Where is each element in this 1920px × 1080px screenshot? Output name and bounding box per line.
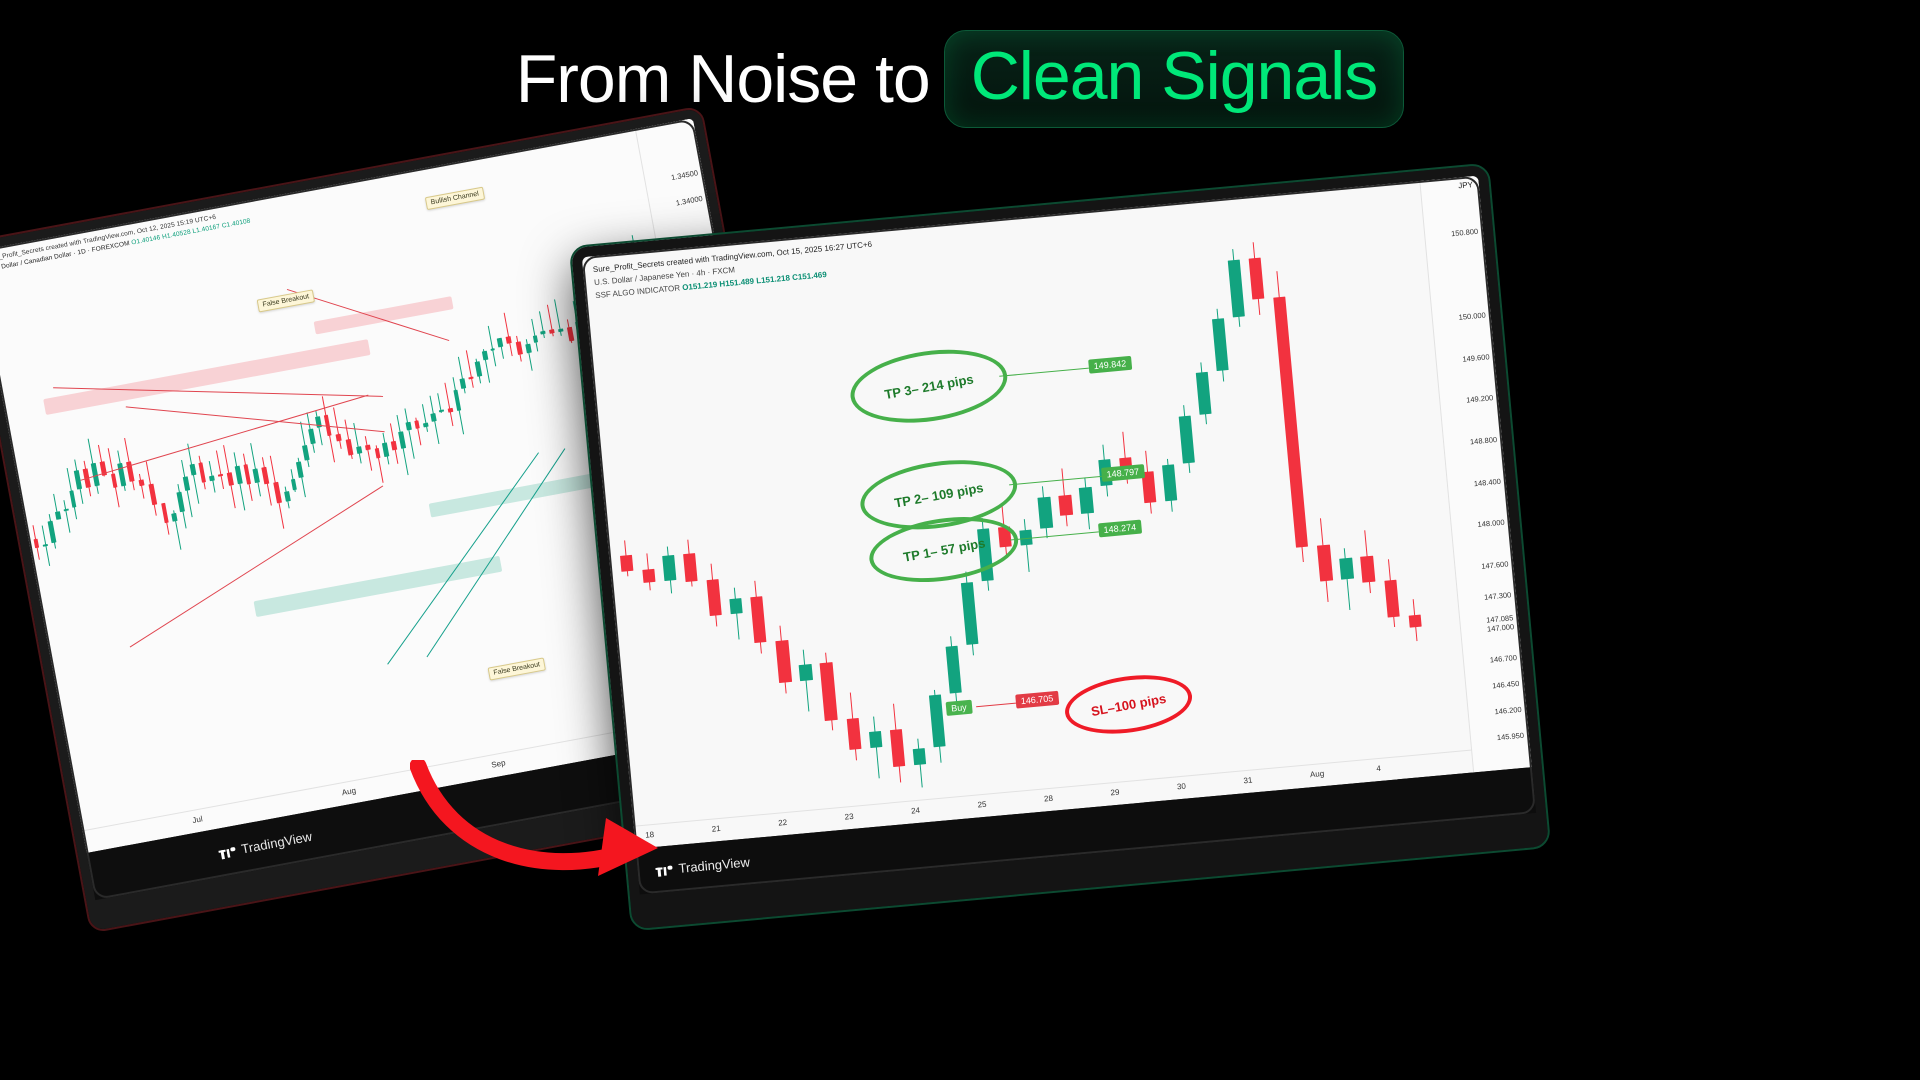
- time-tick: 24: [911, 806, 921, 816]
- candle-body: [177, 492, 185, 512]
- candle-body: [482, 350, 488, 360]
- price-tag-tp1: 148.274: [1098, 519, 1142, 537]
- candle-body: [148, 483, 157, 505]
- price-tick: 1.34500: [670, 168, 698, 182]
- title-plain-text: From Noise to: [516, 40, 930, 118]
- candle-body: [302, 445, 309, 460]
- price-tick: 149.200: [1466, 393, 1494, 404]
- candle-body: [346, 439, 354, 456]
- time-tick: 25: [977, 800, 987, 810]
- candle-body: [189, 464, 196, 476]
- candle-body: [391, 441, 397, 450]
- candle-body: [567, 327, 574, 341]
- candle-body: [63, 508, 68, 511]
- time-tick: 31: [1243, 776, 1253, 786]
- candle-body: [533, 335, 539, 342]
- time-tick: 4: [1376, 764, 1381, 773]
- candle-body: [453, 390, 462, 411]
- candle-body: [405, 421, 411, 430]
- candle-body: [262, 467, 270, 484]
- price-tick: 146.200: [1494, 705, 1522, 716]
- candle-body: [172, 513, 178, 522]
- price-tick: 146.700: [1489, 653, 1517, 664]
- candle-body: [139, 480, 145, 486]
- candle-body: [33, 538, 39, 548]
- tradingview-logo-icon: [218, 843, 237, 859]
- clean-signals-chart-monitor: Sure_Profit_Secrets created with Trading…: [571, 165, 1549, 930]
- time-tick: 23: [844, 812, 854, 822]
- candle-body: [475, 361, 483, 377]
- candle-body: [243, 465, 251, 485]
- price-tick: 150.000: [1458, 310, 1486, 321]
- candle-body: [469, 377, 474, 380]
- candle-body: [365, 445, 371, 451]
- signal-label-tp3: TP 3– 214 pips: [846, 341, 1012, 433]
- candle-body: [235, 466, 243, 485]
- price-tick: 147.600: [1481, 559, 1509, 570]
- clean-price-axis-title: JPY: [1458, 180, 1473, 190]
- page-title: From Noise to Clean Signals: [0, 24, 1920, 134]
- buy-marker: Buy: [946, 700, 973, 716]
- candle-body: [558, 328, 563, 332]
- candle-body: [541, 331, 546, 335]
- price-tick: 147.300: [1484, 591, 1512, 602]
- candle-body: [382, 443, 389, 457]
- candle-body: [490, 348, 495, 351]
- time-tick: Jul: [192, 814, 204, 825]
- price-tick: 147.000: [1487, 622, 1515, 633]
- signal-connector-line: [999, 368, 1089, 377]
- time-tick: Aug: [1310, 769, 1325, 779]
- price-tick: 149.600: [1462, 352, 1490, 363]
- candle-body: [291, 479, 298, 491]
- candle-wick: [216, 451, 224, 489]
- candle-body: [284, 491, 291, 502]
- title-accent-text: Clean Signals: [971, 38, 1378, 114]
- time-tick: 30: [1177, 782, 1187, 792]
- candle-body: [430, 413, 436, 422]
- price-tick: 145.950: [1497, 731, 1525, 742]
- candle-body: [48, 520, 57, 543]
- candle-body: [549, 329, 554, 334]
- clean-signal-annotations: TP 3– 214 pips149.842TP 2– 109 pips148.7…: [582, 183, 1452, 827]
- time-tick: Aug: [341, 786, 357, 797]
- candle-body: [374, 448, 380, 458]
- signal-label-text: TP 3– 214 pips: [883, 371, 974, 402]
- candle-body: [460, 378, 467, 389]
- sl-connector-line: [976, 703, 1016, 708]
- candle-body: [253, 469, 260, 483]
- candle-body: [414, 420, 420, 429]
- candle-wick: [139, 474, 145, 499]
- signal-label-text: TP 2– 109 pips: [893, 480, 984, 511]
- time-tick: 29: [1110, 788, 1120, 798]
- candle-wick: [422, 404, 428, 431]
- noise-footer-brand: TradingView: [240, 828, 313, 856]
- transition-arrow-icon: [410, 760, 710, 880]
- signal-label-text: SL–100 pips: [1090, 691, 1167, 719]
- candle-body: [55, 511, 61, 520]
- candle-wick: [365, 436, 372, 471]
- candle-body: [161, 503, 169, 523]
- price-tag-tp3: 149.842: [1088, 356, 1132, 374]
- candle-body: [296, 461, 304, 478]
- signal-connector-line: [1009, 476, 1102, 485]
- candle-body: [423, 423, 428, 427]
- candle-body: [448, 408, 453, 413]
- time-tick: 21: [711, 824, 721, 834]
- signal-label-sl: SL–100 pips: [1061, 668, 1196, 742]
- price-tick: 148.000: [1477, 518, 1505, 529]
- candle-wick: [466, 351, 474, 388]
- candle-body: [356, 446, 362, 454]
- signal-label-text: TP 1– 57 pips: [902, 535, 986, 564]
- price-tick: 1.34000: [675, 194, 703, 208]
- candle-body: [218, 473, 223, 476]
- candle-body: [516, 341, 523, 355]
- candle-body: [398, 431, 406, 449]
- price-tag-sl: 146.705: [1015, 691, 1059, 709]
- price-tick: 150.800: [1451, 227, 1479, 238]
- candle-wick: [64, 500, 71, 532]
- candle-body: [506, 336, 512, 343]
- candle-body: [183, 476, 190, 491]
- candle-body: [227, 472, 234, 486]
- candle-body: [198, 462, 206, 482]
- candle-body: [273, 481, 282, 503]
- clean-signals-chart-screen[interactable]: Sure_Profit_Secrets created with Trading…: [582, 176, 1532, 849]
- candle-body: [497, 338, 503, 347]
- price-tick: 148.800: [1470, 435, 1498, 446]
- title-accent-badge: Clean Signals: [944, 30, 1405, 128]
- candle-body: [308, 428, 316, 444]
- candle-body: [209, 475, 215, 481]
- time-tick: 22: [778, 818, 788, 828]
- price-tag-tp2: 148.797: [1101, 464, 1145, 482]
- price-tick: 148.400: [1473, 476, 1501, 487]
- time-tick: 28: [1044, 794, 1054, 804]
- signal-connector-line: [1010, 531, 1099, 540]
- candle-body: [336, 434, 342, 442]
- price-tick: 146.450: [1492, 679, 1520, 690]
- candle-body: [69, 490, 77, 508]
- candle-body: [525, 343, 531, 353]
- candle-body: [111, 473, 118, 488]
